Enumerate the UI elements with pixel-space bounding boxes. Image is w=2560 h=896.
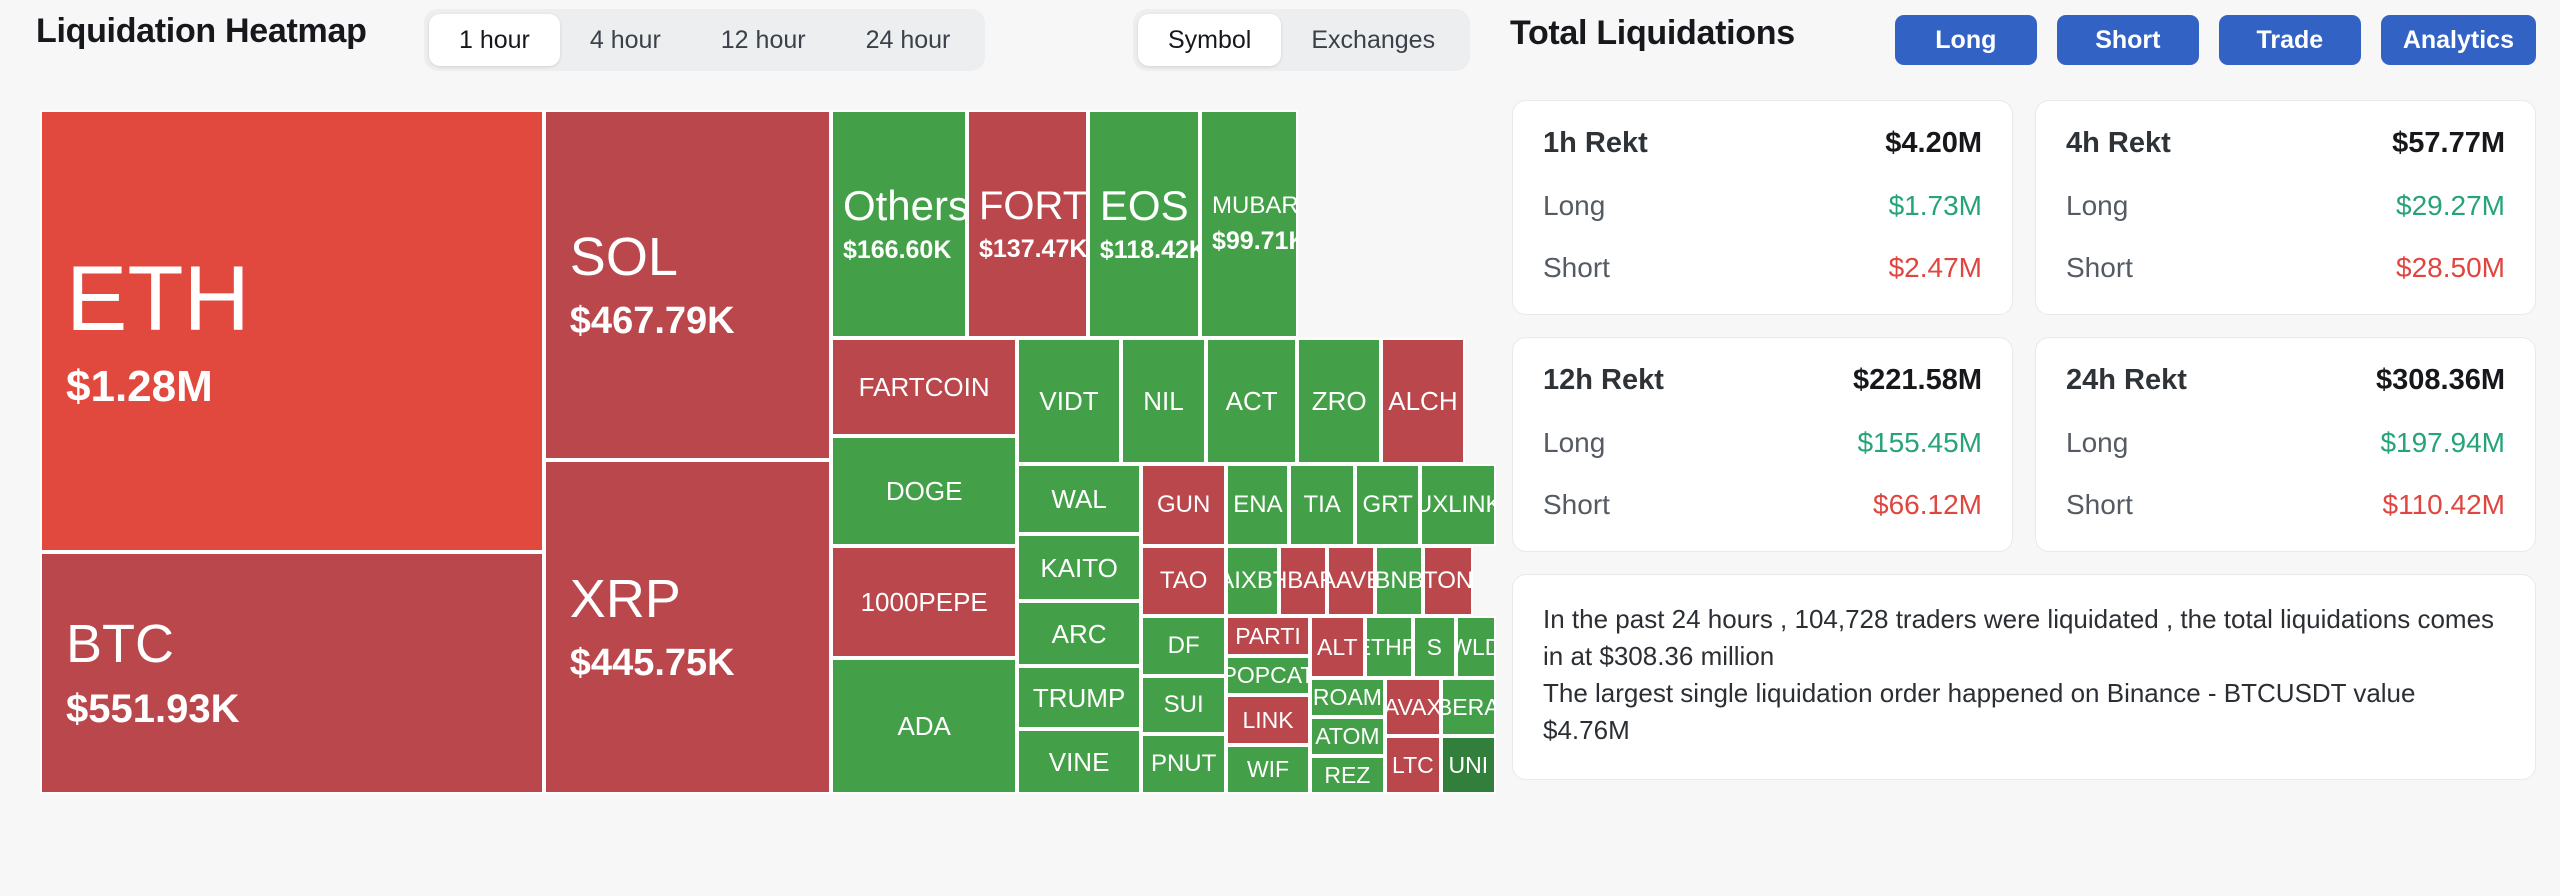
treemap-tile[interactable]: WLD <box>1456 616 1496 678</box>
treemap-tile[interactable]: DF <box>1141 616 1227 676</box>
page-title: Liquidation Heatmap <box>36 12 367 51</box>
treemap-tile[interactable]: AVAX <box>1385 678 1440 736</box>
tile-symbol: ATOM <box>1315 725 1379 748</box>
card-long-line: Long $29.27M <box>2066 190 2505 222</box>
liquidation-treemap[interactable]: ETH$1.28MBTC$551.93KSOL$467.79KXRP$445.7… <box>40 110 1496 794</box>
timeframe-tab-12-hour[interactable]: 12 hour <box>691 14 836 66</box>
tile-symbol: XRP <box>570 572 829 626</box>
tile-symbol: GRT <box>1363 493 1413 517</box>
tile-symbol: AAVE <box>1327 569 1375 593</box>
card-short-line: Short $28.50M <box>2066 252 2505 284</box>
card-total-value: $221.58M <box>1853 364 1982 397</box>
treemap-tile[interactable]: NIL <box>1121 338 1207 464</box>
tile-symbol: TON <box>1423 569 1473 593</box>
tile-symbol: MUBARAK <box>1212 194 1296 218</box>
card-long-label: Long <box>2066 190 2128 222</box>
card-period-label: 24h Rekt <box>2066 364 2187 397</box>
trade-button[interactable]: Trade <box>2219 15 2361 65</box>
card-period-label: 1h Rekt <box>1543 127 1648 160</box>
tile-symbol: VIDT <box>1039 388 1098 414</box>
tile-symbol: BERA <box>1441 696 1496 719</box>
cards-row-bottom: 12h Rekt $221.58M Long $155.45M Short $6… <box>1512 337 2536 552</box>
card-long-value: $155.45M <box>1857 427 1982 459</box>
tile-symbol: SOL <box>570 230 829 284</box>
treemap-tile[interactable]: LINK <box>1226 695 1309 745</box>
tile-symbol: 1000PEPE <box>861 589 988 615</box>
treemap-tile[interactable]: TIA <box>1289 464 1354 546</box>
rekt-card-24h[interactable]: 24h Rekt $308.36M Long $197.94M Short $1… <box>2035 337 2536 552</box>
treemap-tile[interactable]: VINE <box>1017 729 1140 794</box>
tile-symbol: ENA <box>1233 493 1282 517</box>
rekt-card-4h[interactable]: 4h Rekt $57.77M Long $29.27M Short $28.5… <box>2035 100 2536 315</box>
card-total-value: $57.77M <box>2392 127 2505 160</box>
tile-symbol: ARC <box>1052 621 1107 647</box>
action-buttons-group: LongShortTradeAnalytics <box>1895 15 2536 65</box>
tile-symbol: Others <box>843 185 965 227</box>
tile-symbol: UXLINK <box>1420 493 1496 517</box>
tile-value: $118.42K <box>1100 238 1198 263</box>
tile-symbol: HBAR <box>1279 569 1327 593</box>
card-total-line: 24h Rekt $308.36M <box>2066 364 2505 397</box>
treemap-tile[interactable]: BNB <box>1375 546 1423 616</box>
card-period-label: 12h Rekt <box>1543 364 1664 397</box>
card-short-line: Short $66.12M <box>1543 489 1982 521</box>
liquidation-heatmap-page: Liquidation Heatmap 1 hour4 hour12 hour2… <box>0 0 2560 896</box>
tile-value: $166.60K <box>843 238 965 263</box>
tile-symbol: ETH <box>66 253 542 345</box>
treemap-tile[interactable]: Others$166.60K <box>831 110 967 338</box>
treemap-tile[interactable]: TAO <box>1141 546 1227 616</box>
card-short-value: $2.47M <box>1889 252 1982 284</box>
card-total-value: $4.20M <box>1885 127 1982 160</box>
treemap-tile[interactable]: GUN <box>1141 464 1227 546</box>
treemap-tile[interactable]: ATOM <box>1310 717 1386 756</box>
tile-symbol: EOS <box>1100 185 1198 227</box>
tile-symbol: ALCH <box>1388 388 1457 414</box>
card-total-value: $308.36M <box>2376 364 2505 397</box>
tile-symbol: WIF <box>1247 758 1289 781</box>
card-short-label: Short <box>1543 489 1610 521</box>
treemap-tile[interactable]: S <box>1413 616 1456 678</box>
tile-symbol: AVAX <box>1385 696 1440 719</box>
rekt-card-12h[interactable]: 12h Rekt $221.58M Long $155.45M Short $6… <box>1512 337 2013 552</box>
treemap-tile[interactable]: ENA <box>1226 464 1289 546</box>
tile-symbol: LTC <box>1392 754 1434 777</box>
card-long-value: $29.27M <box>2396 190 2505 222</box>
totals-cards-panel: 1h Rekt $4.20M Long $1.73M Short $2.47M … <box>1512 100 2536 780</box>
card-long-line: Long $197.94M <box>2066 427 2505 459</box>
treemap-tile[interactable]: UNI <box>1441 736 1496 794</box>
treemap-tile[interactable]: BERA <box>1441 678 1496 736</box>
treemap-tile[interactable]: HBAR <box>1279 546 1327 616</box>
treemap-tile[interactable]: GRT <box>1355 464 1420 546</box>
cards-row-top: 1h Rekt $4.20M Long $1.73M Short $2.47M … <box>1512 100 2536 315</box>
card-short-label: Short <box>1543 252 1610 284</box>
timeframe-tab-1-hour[interactable]: 1 hour <box>429 14 560 66</box>
analytics-button[interactable]: Analytics <box>2381 15 2536 65</box>
card-short-line: Short $110.42M <box>2066 489 2505 521</box>
card-short-line: Short $2.47M <box>1543 252 1982 284</box>
treemap-tile[interactable]: ETHFI <box>1365 616 1413 678</box>
tile-symbol: ADA <box>897 713 950 739</box>
card-long-line: Long $155.45M <box>1543 427 1982 459</box>
card-long-label: Long <box>1543 190 1605 222</box>
view-mode-segmented-control[interactable]: SymbolExchanges <box>1133 9 1470 71</box>
tile-symbol: ZRO <box>1312 388 1367 414</box>
tile-symbol: ROAM <box>1313 686 1382 709</box>
tile-symbol: S <box>1427 636 1442 659</box>
tile-symbol: VINE <box>1049 749 1110 775</box>
treemap-tile[interactable]: 1000PEPE <box>831 546 1017 658</box>
tile-symbol: DF <box>1168 634 1200 658</box>
total-liquidations-title: Total Liquidations <box>1510 14 1795 53</box>
summary-line-1: In the past 24 hours , 104,728 traders w… <box>1543 601 2505 675</box>
summary-line-2: The largest single liquidation order hap… <box>1543 675 2505 749</box>
treemap-tile[interactable]: FORTH$137.47K <box>967 110 1088 338</box>
tile-symbol: GUN <box>1157 493 1210 517</box>
treemap-tile[interactable]: UXLINK <box>1420 464 1496 546</box>
tile-value: $99.71K <box>1212 229 1296 254</box>
tile-symbol: TIA <box>1304 493 1341 517</box>
treemap-tile[interactable]: EOS$118.42K <box>1088 110 1200 338</box>
tile-symbol: TRUMP <box>1033 685 1125 711</box>
tile-symbol: DOGE <box>886 478 963 504</box>
treemap-tile[interactable]: ROAM <box>1310 678 1386 717</box>
tile-symbol: UNI <box>1448 754 1488 777</box>
short-button[interactable]: Short <box>2057 15 2199 65</box>
tile-symbol: ETHFI <box>1365 636 1413 659</box>
treemap-tile[interactable]: ETH$1.28M <box>40 110 544 552</box>
treemap-tile[interactable]: LTC <box>1385 736 1440 794</box>
tile-symbol: KAITO <box>1040 555 1118 581</box>
tile-value: $445.75K <box>570 644 829 682</box>
timeframe-segmented-control[interactable]: 1 hour4 hour12 hour24 hour <box>424 9 985 71</box>
treemap-tile[interactable]: PARTI <box>1226 616 1309 656</box>
treemap-tile[interactable]: SOL$467.79K <box>544 110 831 460</box>
card-short-label: Short <box>2066 489 2133 521</box>
card-short-value: $28.50M <box>2396 252 2505 284</box>
treemap-tile[interactable]: REZ <box>1310 756 1386 794</box>
long-button[interactable]: Long <box>1895 15 2037 65</box>
treemap-tile[interactable]: ZRO <box>1297 338 1381 464</box>
treemap-tile[interactable]: MUBARAK$99.71K <box>1200 110 1298 338</box>
treemap-tile[interactable]: ALT <box>1310 616 1365 678</box>
header-bar: Liquidation Heatmap 1 hour4 hour12 hour2… <box>0 0 2560 80</box>
timeframe-tab-4-hour[interactable]: 4 hour <box>560 14 691 66</box>
tile-symbol: PNUT <box>1151 752 1216 776</box>
tile-symbol: AIXBT <box>1226 569 1279 593</box>
treemap-tile[interactable]: XRP$445.75K <box>544 460 831 794</box>
tile-symbol: TAO <box>1160 569 1208 593</box>
card-short-label: Short <box>2066 252 2133 284</box>
treemap-tile[interactable]: TRUMP <box>1017 666 1140 729</box>
treemap-tile[interactable]: SUI <box>1141 676 1227 734</box>
treemap-tile[interactable]: DOGE <box>831 436 1017 546</box>
tile-symbol: NIL <box>1143 388 1183 414</box>
card-period-label: 4h Rekt <box>2066 127 2171 160</box>
tile-symbol: ALT <box>1317 636 1357 659</box>
rekt-card-1h[interactable]: 1h Rekt $4.20M Long $1.73M Short $2.47M <box>1512 100 2013 315</box>
treemap-tile[interactable]: VIDT <box>1017 338 1120 464</box>
tile-symbol: REZ <box>1324 764 1370 787</box>
tile-symbol: FORTH <box>979 186 1086 226</box>
card-long-label: Long <box>1543 427 1605 459</box>
card-long-line: Long $1.73M <box>1543 190 1982 222</box>
card-total-line: 12h Rekt $221.58M <box>1543 364 1982 397</box>
tile-value: $551.93K <box>66 689 542 729</box>
treemap-tile[interactable]: KAITO <box>1017 534 1140 601</box>
mode-tab-symbol[interactable]: Symbol <box>1138 14 1281 66</box>
timeframe-tab-24-hour[interactable]: 24 hour <box>836 14 981 66</box>
mode-tab-exchanges[interactable]: Exchanges <box>1281 14 1465 66</box>
treemap-tile[interactable]: FARTCOIN <box>831 338 1017 436</box>
tile-symbol: BNB <box>1375 569 1423 593</box>
tile-symbol: BTC <box>66 617 542 671</box>
treemap-tile[interactable]: ACT <box>1206 338 1297 464</box>
tile-value: $137.47K <box>979 237 1086 262</box>
treemap-tile[interactable]: ALCH <box>1381 338 1464 464</box>
tile-symbol: WLD <box>1456 636 1496 659</box>
card-total-line: 4h Rekt $57.77M <box>2066 127 2505 160</box>
treemap-tile[interactable]: WAL <box>1017 464 1140 534</box>
tile-value: $467.79K <box>570 302 829 340</box>
card-total-line: 1h Rekt $4.20M <box>1543 127 1982 160</box>
treemap-tile[interactable]: ADA <box>831 658 1017 794</box>
card-long-label: Long <box>2066 427 2128 459</box>
treemap-tile[interactable]: AIXBT <box>1226 546 1279 616</box>
tile-value: $1.28M <box>66 365 542 409</box>
tile-symbol: SUI <box>1164 693 1204 717</box>
tile-symbol: WAL <box>1051 486 1106 512</box>
tile-symbol: LINK <box>1242 709 1293 732</box>
tile-symbol: FARTCOIN <box>859 374 990 400</box>
card-long-value: $197.94M <box>2380 427 2505 459</box>
treemap-tile[interactable]: ARC <box>1017 601 1140 666</box>
treemap-tile[interactable]: BTC$551.93K <box>40 552 544 794</box>
card-short-value: $66.12M <box>1873 489 1982 521</box>
treemap-tile[interactable]: WIF <box>1226 745 1309 794</box>
card-short-value: $110.42M <box>2383 489 2505 521</box>
treemap-tile[interactable]: AAVE <box>1327 546 1375 616</box>
treemap-tile[interactable]: PNUT <box>1141 734 1227 794</box>
tile-symbol: POPCAT <box>1226 664 1309 687</box>
tile-symbol: ACT <box>1226 388 1278 414</box>
card-long-value: $1.73M <box>1889 190 1982 222</box>
treemap-tile[interactable]: POPCAT <box>1226 656 1309 695</box>
tile-symbol: PARTI <box>1235 625 1301 648</box>
summary-panel: In the past 24 hours , 104,728 traders w… <box>1512 574 2536 780</box>
treemap-tile[interactable]: TON <box>1423 546 1473 616</box>
